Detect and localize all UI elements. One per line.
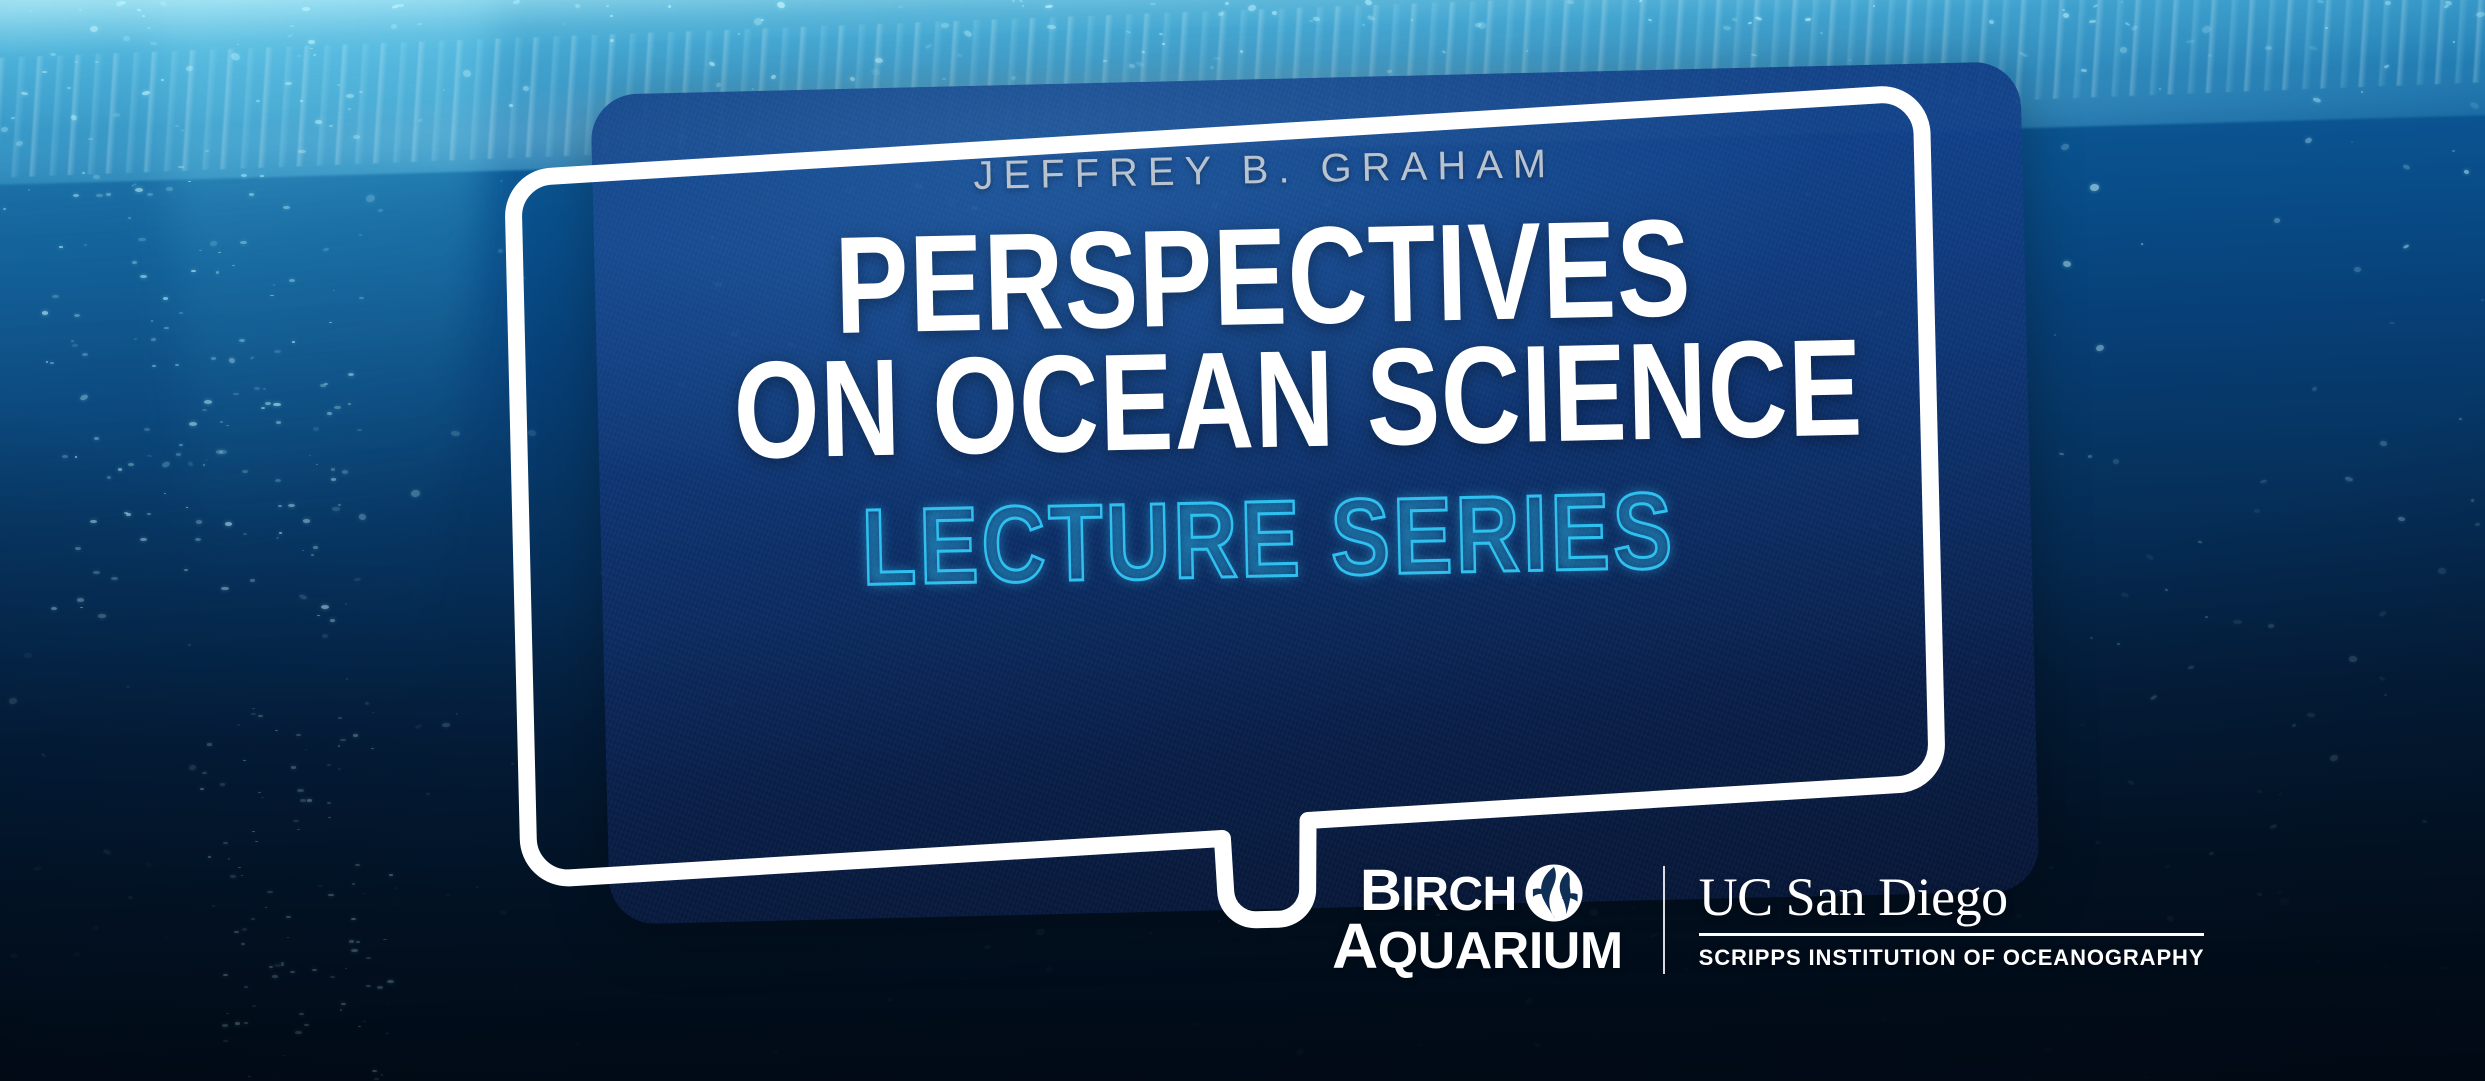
aquarium-word-rest: QUARIUM [1378, 922, 1623, 980]
birch-word-row: BIRCH [1360, 862, 1623, 920]
ucsd-underline [1699, 933, 2205, 936]
aquarium-word: AQUARIUM [1332, 914, 1623, 978]
aquarium-initial: A [1332, 910, 1378, 982]
title-line-2: ON OCEAN SCIENCE [732, 330, 1798, 471]
birch-aquarium-logo[interactable]: BIRCH AQUARIUM [1332, 862, 1653, 978]
logo-lockup: BIRCH AQUARIUM UC San Diego SCRIPPS INST… [1332, 862, 2204, 978]
logo-divider [1663, 866, 1665, 974]
uc-san-diego-logo[interactable]: UC San Diego SCRIPPS INSTITUTION OF OCEA… [1699, 870, 2205, 971]
subtitle-lecture-series: LECTURE SERIES [722, 474, 1815, 605]
ucsd-wordmark: UC San Diego [1699, 870, 2205, 924]
headline-block: JEFFREY B. GRAHAM PERSPECTIVES ON OCEAN … [596, 136, 1935, 607]
ocean-science-lecture-banner: JEFFREY B. GRAHAM PERSPECTIVES ON OCEAN … [0, 0, 2485, 1081]
scripps-institution-label: SCRIPPS INSTITUTION OF OCEANOGRAPHY [1699, 945, 2205, 971]
birch-word: BIRCH [1360, 862, 1517, 920]
